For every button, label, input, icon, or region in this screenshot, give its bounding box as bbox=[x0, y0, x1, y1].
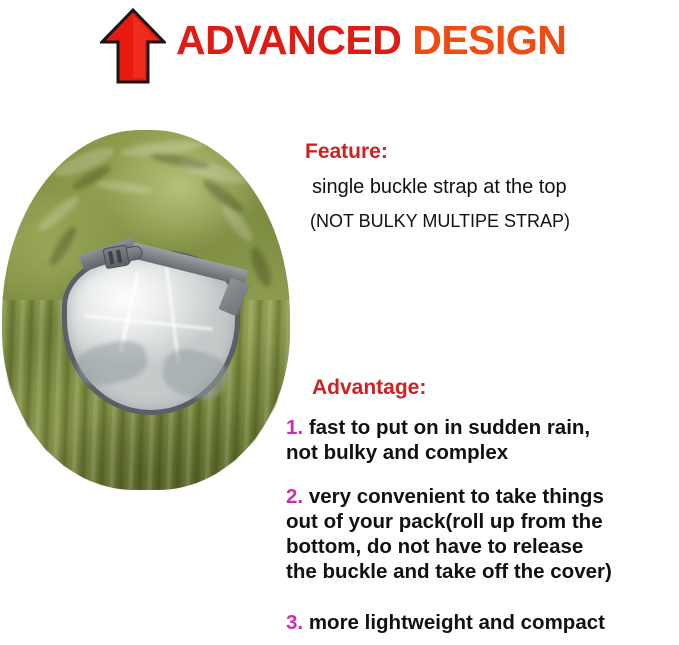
panel-crease bbox=[85, 314, 213, 330]
page-title: ADVANCED DESIGN bbox=[176, 16, 566, 64]
advantage-heading: Advantage: bbox=[312, 375, 426, 401]
feature-section: Feature: bbox=[305, 139, 675, 165]
buckle-nose bbox=[126, 245, 144, 262]
advantage-item-2-line-4: the buckle and take off the cover) bbox=[286, 560, 612, 583]
feature-heading: Feature: bbox=[305, 139, 675, 165]
feature-line-1: single buckle strap at the top bbox=[312, 174, 567, 200]
advantage-item-3-line-1: more lightweight and compact bbox=[309, 611, 605, 634]
advantage-item-2-number: 2. bbox=[286, 485, 303, 508]
panel-crease bbox=[165, 267, 180, 363]
advantage-item-2-line-1: very convenient to take things bbox=[309, 485, 604, 508]
advantage-item-3: 3. more lightweight and compact bbox=[286, 610, 679, 635]
advantage-item-2-line-2: out of your pack(roll up from the bbox=[286, 510, 603, 533]
title-word-advanced: ADVANCED bbox=[176, 17, 401, 63]
panel-shade bbox=[74, 336, 151, 390]
advantage-item-2: 2. very convenient to take things out of… bbox=[286, 484, 679, 584]
advantage-item-1: 1. fast to put on in sudden rain, not bu… bbox=[286, 415, 679, 465]
header-banner: ADVANCED DESIGN bbox=[0, 0, 679, 95]
advantage-item-3-number: 3. bbox=[286, 611, 303, 634]
up-arrow-icon bbox=[100, 8, 166, 84]
advantage-item-1-number: 1. bbox=[286, 416, 303, 439]
advantage-item-2-line-3: bottom, do not have to release bbox=[286, 535, 583, 558]
advantage-item-1-line-2: not bulky and complex bbox=[286, 441, 508, 464]
advantage-list: 1. fast to put on in sudden rain, not bu… bbox=[286, 415, 679, 635]
advantage-item-1-line-1: fast to put on in sudden rain, bbox=[309, 416, 590, 439]
feature-line-2: (NOT BULKY MULTIPE STRAP) bbox=[310, 209, 570, 233]
backpack-rain-cover-photo bbox=[0, 120, 300, 502]
infographic-page: ADVANCED DESIGN bbox=[0, 0, 679, 645]
title-word-design: DESIGN bbox=[401, 17, 566, 63]
